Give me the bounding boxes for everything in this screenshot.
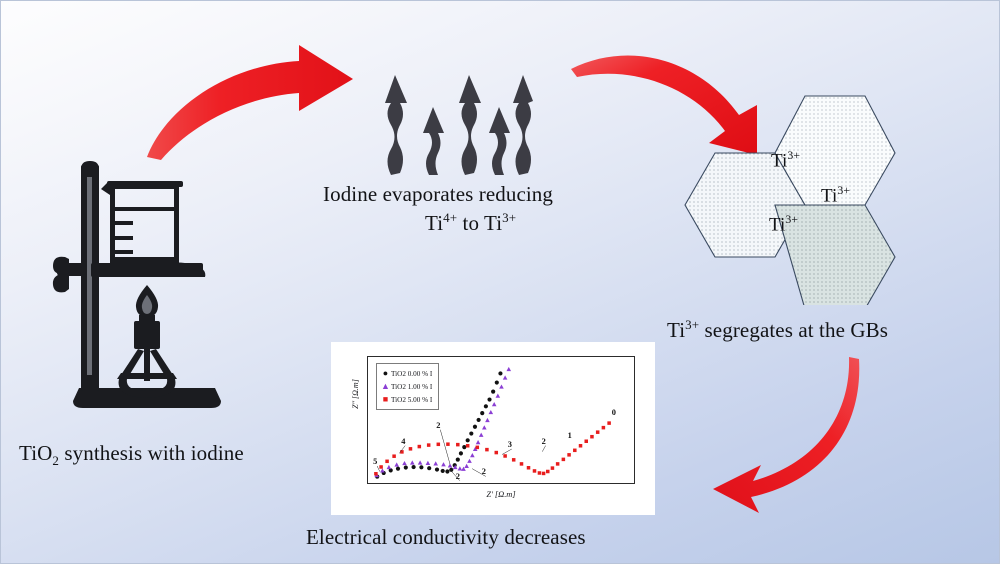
chart-annotation: 2 xyxy=(542,437,546,446)
synthesis-caption: TiO2 synthesis with iodine xyxy=(19,441,244,469)
annotation-leader-line xyxy=(440,430,450,464)
chart-annotation: 4 xyxy=(401,437,405,446)
annotation-leader-line xyxy=(399,446,405,454)
chart-annotation: 2 xyxy=(482,467,486,476)
annotation-leader-line xyxy=(542,446,545,452)
annotation-leader-line xyxy=(377,466,380,472)
grain-ion-label-2: Ti3+ xyxy=(821,184,850,207)
chart-annotation: 1 xyxy=(568,431,572,440)
nyquist-chart-panel: Z'' [Ω.m] Z' [Ω.m] ● TiO2 0.00 % I ▲ TiO… xyxy=(331,342,655,515)
chart-annotation: 3 xyxy=(508,440,512,449)
arrow-synthesis-to-evaporation xyxy=(131,39,366,169)
grain-hexagons xyxy=(677,85,927,305)
conductivity-caption: Electrical conductivity decreases xyxy=(306,525,586,550)
arrow-segregation-to-conductivity xyxy=(691,353,891,518)
chart-annotation: 0 xyxy=(612,408,616,417)
graphical-abstract: Ti3+ Ti3+ Ti3+ Iodine evaporates reducin… xyxy=(0,0,1000,564)
chart-annotation-layer xyxy=(368,357,634,483)
evaporation-caption-line2: Ti4+ to Ti3+ xyxy=(425,210,516,236)
grain-ion-label-1: Ti3+ xyxy=(771,149,800,172)
chart-annotation: 2 xyxy=(456,472,460,481)
segregation-caption: Ti3+ segregates at the GBs xyxy=(667,317,888,343)
chart-plot-area: ● TiO2 0.00 % I ▲ TiO2 1.00 % I ■ TiO2 5… xyxy=(367,356,635,484)
chart-annotation: 5 xyxy=(373,457,377,466)
retort-stand-with-beaker-and-burner xyxy=(43,153,245,411)
annotation-leader-line xyxy=(502,449,512,455)
iodine-vapour-arrows xyxy=(373,51,533,179)
chart-annotation: 2 xyxy=(436,421,440,430)
chart-y-axis-label: Z'' [Ω.m] xyxy=(351,364,360,424)
chart-x-axis-label: Z' [Ω.m] xyxy=(367,490,635,499)
grain-ion-label-3: Ti3+ xyxy=(769,213,798,236)
evaporation-caption-line1: Iodine evaporates reducing xyxy=(323,182,553,207)
